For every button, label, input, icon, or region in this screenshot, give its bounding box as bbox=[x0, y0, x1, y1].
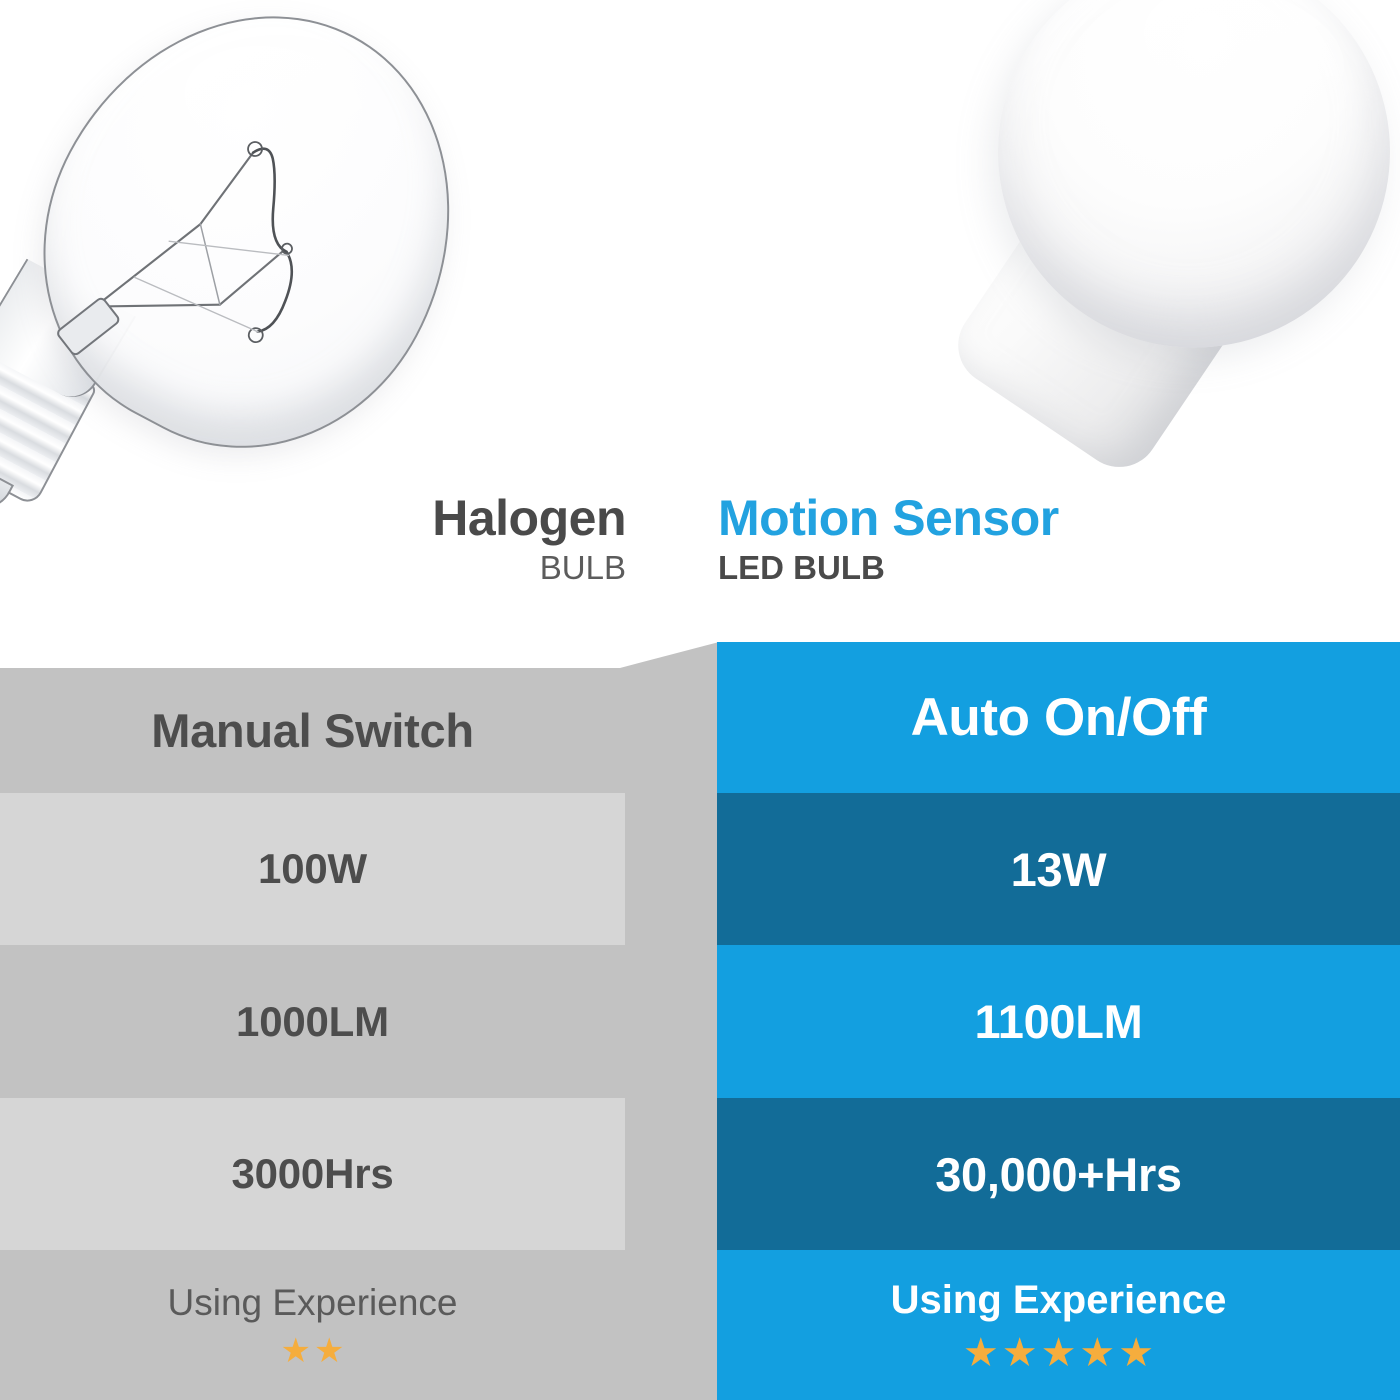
led-row-lifespan: 30,000+Hrs bbox=[717, 1098, 1400, 1250]
led-lifespan-value: 30,000+Hrs bbox=[935, 1147, 1182, 1202]
halogen-row-experience: Using Experience ★ ★ bbox=[0, 1250, 625, 1400]
halogen-star-rating: ★ ★ bbox=[281, 1334, 345, 1368]
halogen-subtitle: BULB bbox=[196, 550, 626, 586]
halogen-spec-panel: Manual Switch 100W 1000LM 3000Hrs Using … bbox=[0, 640, 719, 1400]
star-icon: ★ bbox=[1002, 1333, 1038, 1373]
led-row-lumens: 1100LM bbox=[717, 945, 1400, 1098]
led-lumens-value: 1100LM bbox=[974, 994, 1142, 1049]
halogen-lifespan-value: 3000Hrs bbox=[231, 1150, 393, 1198]
halogen-title: Halogen bbox=[196, 492, 626, 544]
halogen-filament bbox=[0, 0, 524, 508]
led-experience-label: Using Experience bbox=[891, 1278, 1227, 1323]
halogen-row-lifespan: 3000Hrs bbox=[0, 1098, 625, 1250]
star-icon: ★ bbox=[1041, 1333, 1077, 1373]
motion-sensor-title-block: Motion Sensor LED BULB bbox=[718, 492, 1148, 586]
led-row-experience: Using Experience ★ ★ ★ ★ ★ bbox=[717, 1250, 1400, 1400]
star-icon: ★ bbox=[314, 1334, 344, 1368]
halogen-row-control: Manual Switch bbox=[0, 668, 625, 792]
halogen-control-value: Manual Switch bbox=[151, 703, 474, 758]
star-icon: ★ bbox=[281, 1334, 311, 1368]
led-wattage-value: 13W bbox=[1011, 842, 1107, 897]
halogen-experience-label: Using Experience bbox=[168, 1282, 458, 1324]
halogen-lumens-value: 1000LM bbox=[236, 998, 389, 1046]
halogen-clear-bulb-image bbox=[0, 0, 633, 707]
halogen-title-block: Halogen BULB bbox=[196, 492, 626, 586]
hero-section: Halogen BULB Motion Sensor LED BULB bbox=[0, 0, 1400, 670]
motion-sensor-subtitle: LED BULB bbox=[718, 550, 1148, 586]
halogen-row-lumens: 1000LM bbox=[0, 945, 625, 1098]
comparison-infographic: Halogen BULB Motion Sensor LED BULB Manu… bbox=[0, 0, 1400, 1400]
led-row-wattage: 13W bbox=[717, 793, 1400, 945]
led-row-control: Auto On/Off bbox=[717, 642, 1400, 793]
star-icon: ★ bbox=[1118, 1333, 1154, 1373]
motion-sensor-spec-panel: Auto On/Off 13W 1100LM 30,000+Hrs Using … bbox=[717, 642, 1400, 1400]
led-star-rating: ★ ★ ★ ★ ★ bbox=[963, 1333, 1154, 1373]
star-icon: ★ bbox=[963, 1333, 999, 1373]
led-control-value: Auto On/Off bbox=[911, 687, 1207, 748]
motion-sensor-title: Motion Sensor bbox=[718, 492, 1148, 544]
star-icon: ★ bbox=[1079, 1333, 1115, 1373]
halogen-row-wattage: 100W bbox=[0, 793, 625, 945]
halogen-wattage-value: 100W bbox=[258, 845, 367, 893]
